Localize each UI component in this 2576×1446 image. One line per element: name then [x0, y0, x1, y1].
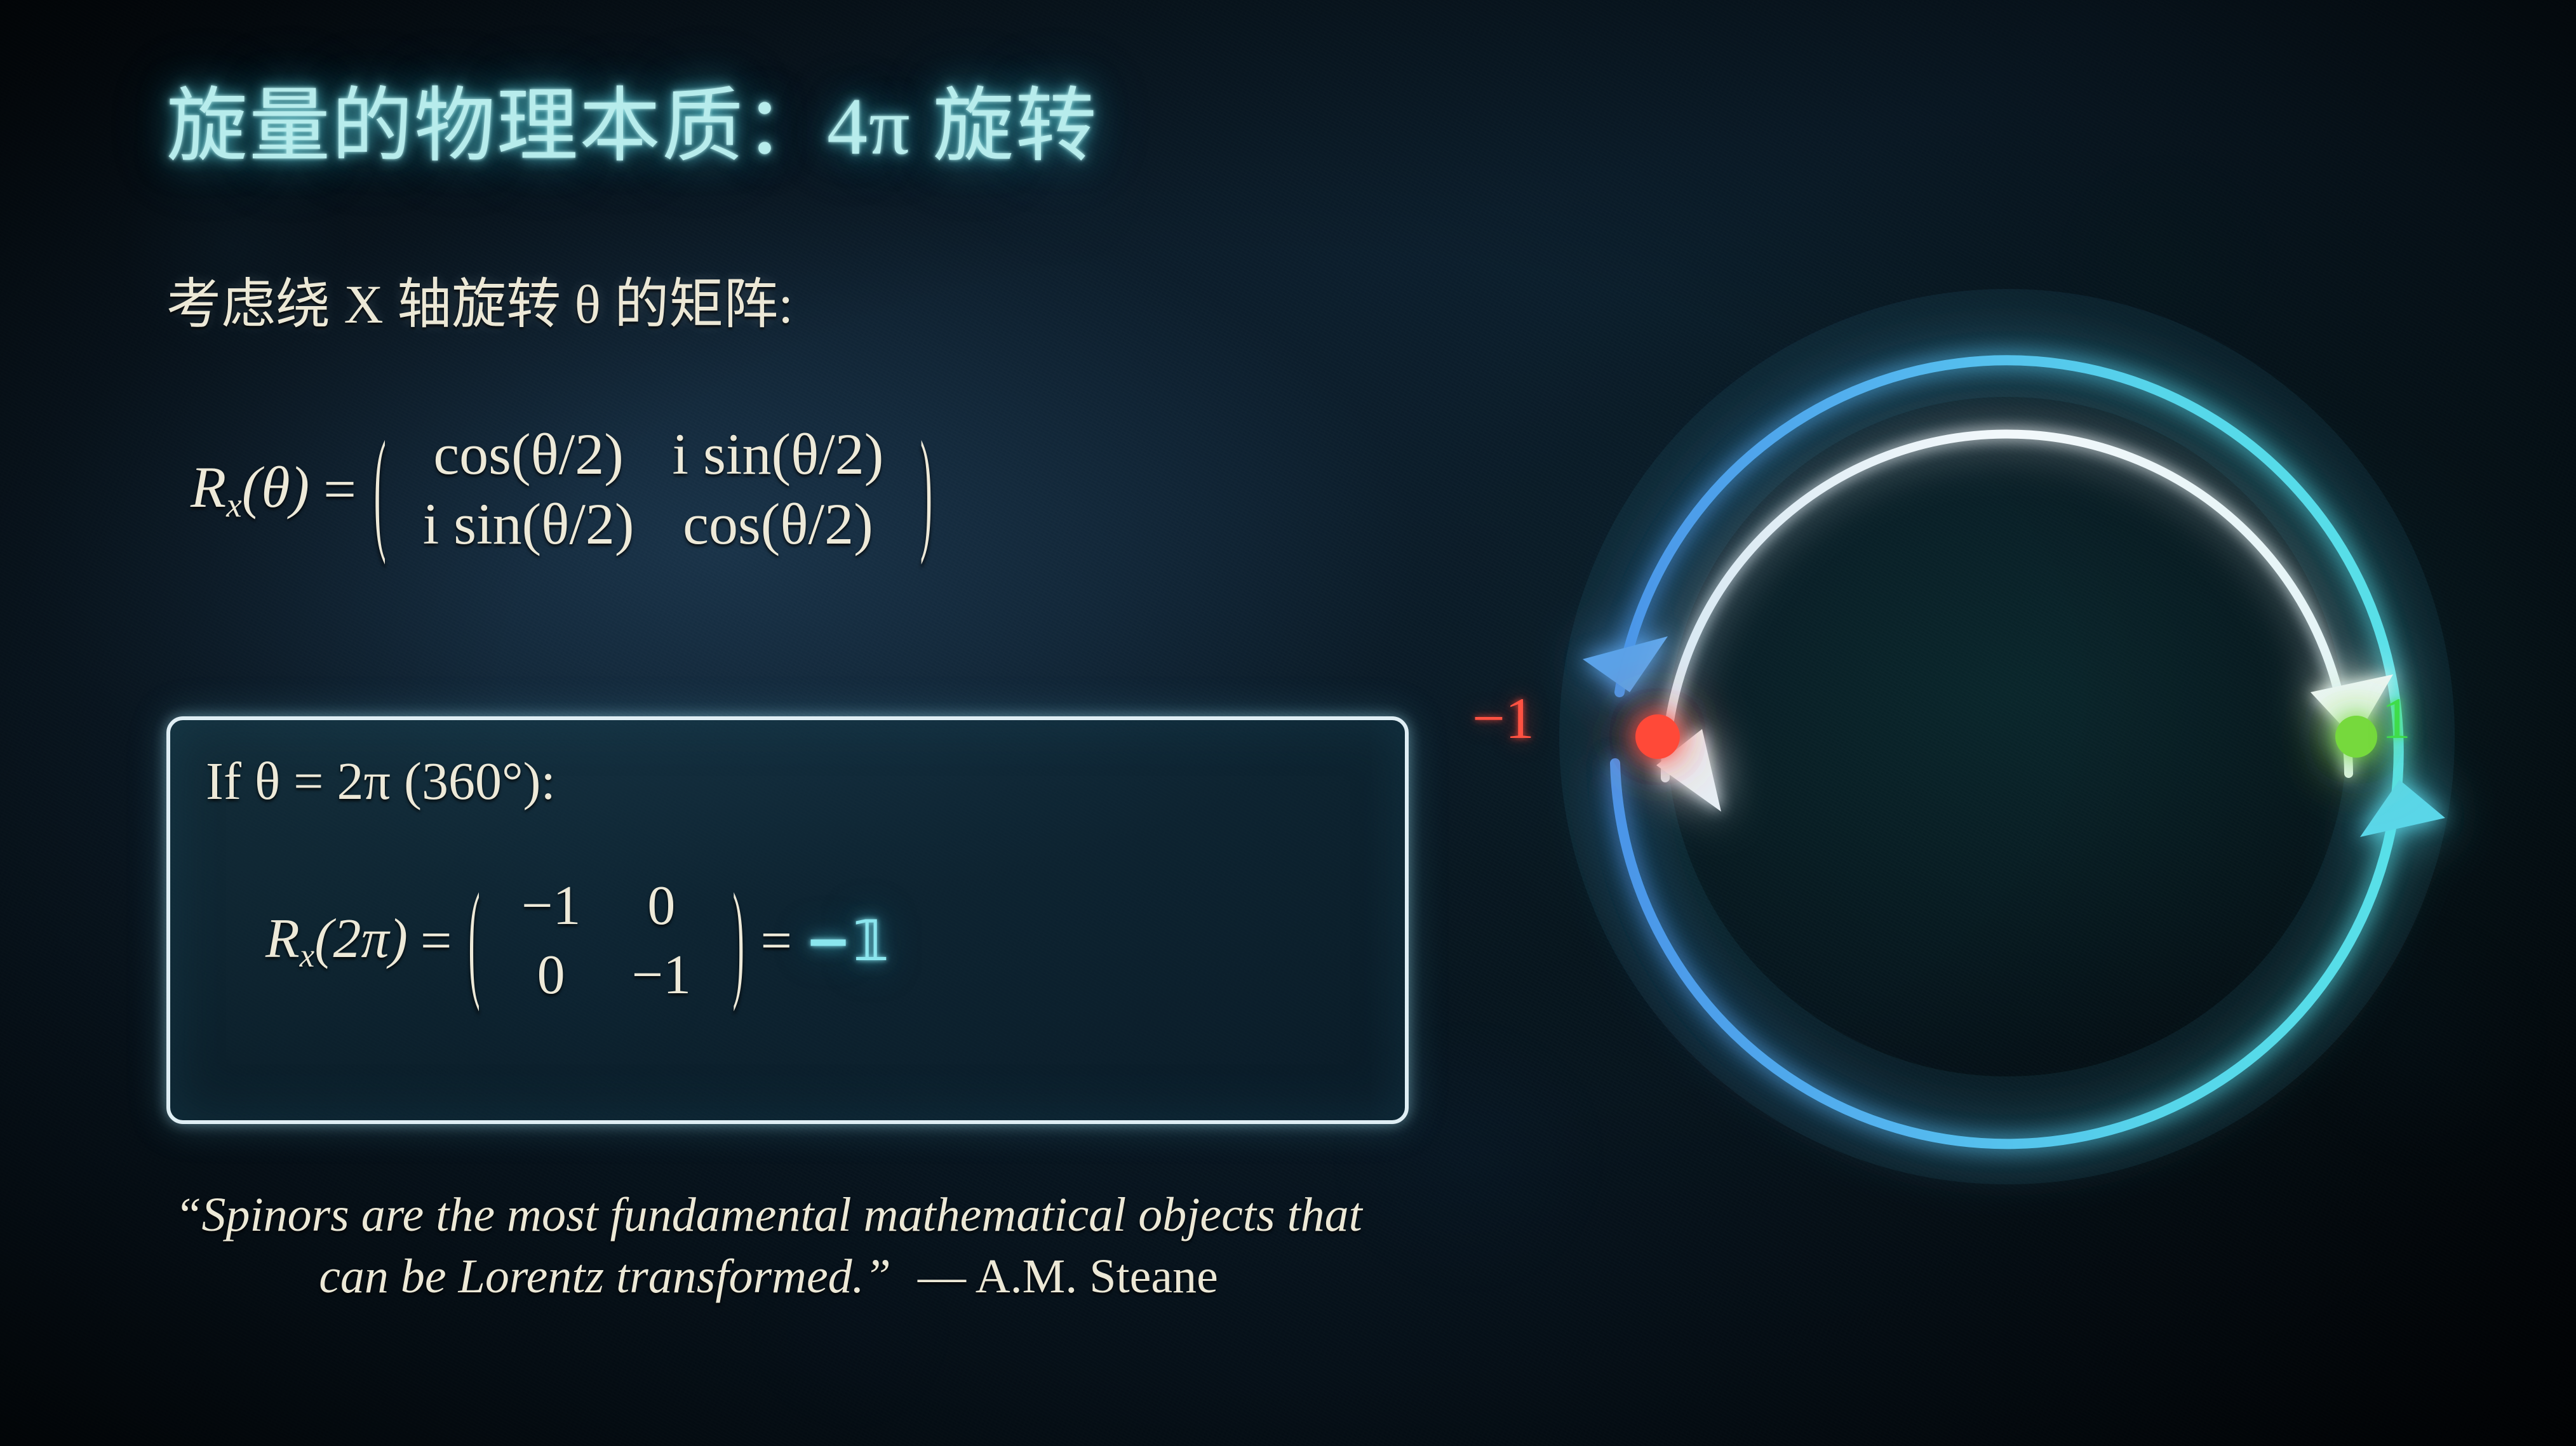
minus-one-dot	[1635, 714, 1680, 759]
matrix2-cell-r0c1: 0	[622, 871, 701, 941]
outer-arc-path	[1615, 360, 2399, 1144]
subtitle-text: 考虑绕 X 轴旋转 θ 的矩阵:	[166, 274, 793, 335]
rotation-circle-diagram	[1518, 248, 2496, 1226]
equals-sign: =	[323, 455, 356, 523]
matrix-cell-r0c0: cos(θ/2)	[414, 419, 643, 489]
quote-line-2: can be Lorentz transformed.”— A.M. Stean…	[0, 1246, 1537, 1308]
quote-block: “Spinors are the most fundamental mathem…	[0, 1184, 1537, 1308]
matrix-cell-r1c1: cos(θ/2)	[664, 489, 892, 559]
matrix2-right-paren: )	[733, 865, 744, 1015]
quote-line-1: “Spinors are the most fundamental mathem…	[0, 1184, 1537, 1246]
matrix-general: cos(θ/2) i sin(θ/2) i sin(θ/2) cos(θ/2)	[404, 419, 903, 559]
dot-right-group	[2335, 716, 2377, 758]
matrix2-left-paren: (	[468, 865, 480, 1015]
equals-sign-2: =	[760, 909, 792, 973]
rotation-2pi-equation: Rx(2π) = ( −1 0 0 −1 ) = −𝟙	[265, 871, 890, 1010]
equation-lhs: Rx(θ)	[191, 453, 309, 525]
matrix-2pi: −1 0 0 −1	[496, 871, 716, 1010]
matrix-right-paren: )	[920, 410, 932, 568]
equation2-lhs: Rx(2π)	[265, 907, 408, 975]
dot-left-group	[1635, 714, 1680, 759]
slide-canvas: 旋量的物理本质：4π 旋转 考虑绕 X 轴旋转 θ 的矩阵: Rx(θ) = (…	[0, 0, 2576, 1446]
diagram-label-plus-one: 1	[2382, 685, 2411, 752]
page-title: 旋量的物理本质：4π 旋转	[166, 84, 1098, 169]
highlight-box: If θ = 2π (360°): Rx(2π) = ( −1 0 0 −1 )…	[166, 716, 1409, 1124]
quote-attribution: — A.M. Steane	[918, 1250, 1218, 1303]
rotation-matrix-equation: Rx(θ) = ( cos(θ/2) i sin(θ/2) i sin(θ/2)…	[191, 419, 936, 559]
matrix-cell-r0c1: i sin(θ/2)	[654, 419, 903, 489]
ring-ambient-halo	[1613, 343, 2401, 1130]
negative-identity-result: −𝟙	[805, 908, 890, 974]
matrix2-cell-r1c1: −1	[607, 941, 717, 1010]
diagram-label-minus-one: −1	[1472, 685, 1534, 752]
equals-sign-1: =	[420, 909, 452, 973]
matrix-cell-r1c0: i sin(θ/2)	[404, 489, 654, 559]
plus-one-dot	[2335, 716, 2377, 758]
condition-text: If θ = 2π (360°):	[206, 751, 556, 812]
matrix2-cell-r1c0: 0	[512, 941, 591, 1010]
matrix2-cell-r0c0: −1	[496, 871, 607, 941]
matrix-left-paren: (	[374, 410, 386, 568]
